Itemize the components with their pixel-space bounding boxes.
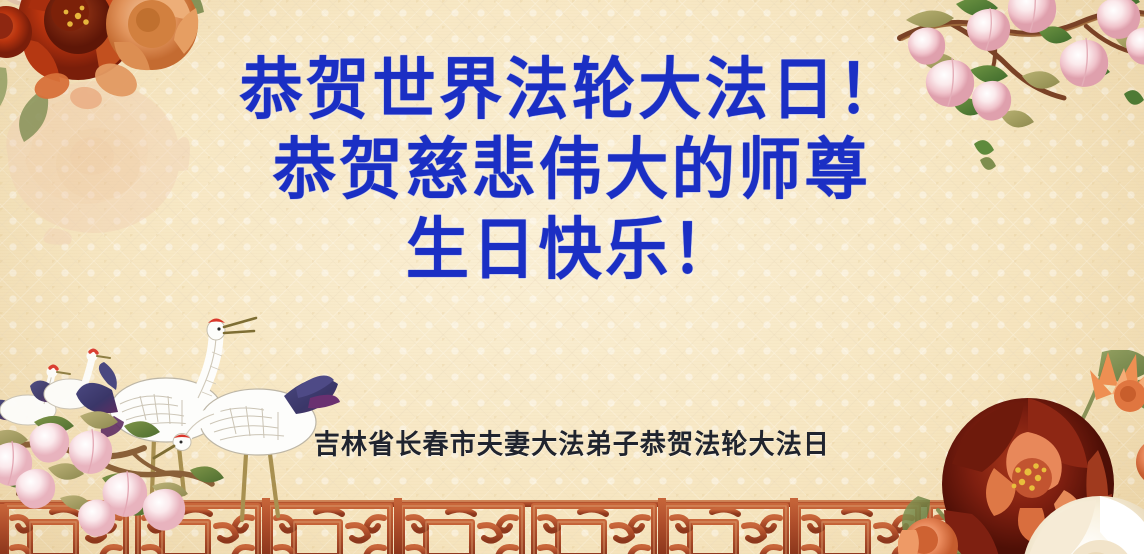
- signature-text: 吉林省长春市夫妻大法弟子恭贺法轮大法日: [0, 423, 1144, 461]
- greeting-line-3: 生日快乐！: [0, 216, 1144, 283]
- greeting-line-2: 恭贺慈悲伟大的师尊: [0, 136, 1144, 203]
- greeting-card: 恭贺世界法轮大法日！ 恭贺慈悲伟大的师尊 生日快乐！ 吉林省长春市夫妻大法弟子恭…: [0, 0, 1144, 554]
- greeting-line-1: 恭贺世界法轮大法日！: [0, 56, 1144, 123]
- bottom-lattice-railing-icon: [0, 488, 1144, 554]
